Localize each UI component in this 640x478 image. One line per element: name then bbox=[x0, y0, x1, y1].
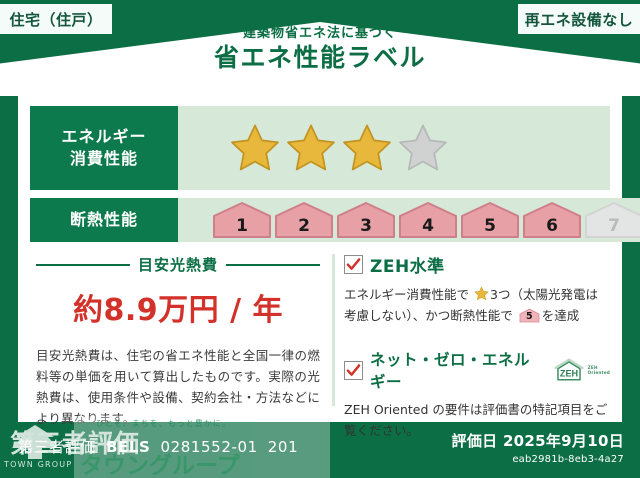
utility-cost-column: 目安光熱費 約8.9万円 / 年 目安光熱費は、住宅の省エネ性能と全国一律の燃料… bbox=[30, 248, 326, 420]
heading-rule-left bbox=[36, 264, 130, 266]
house-level-number: 1 bbox=[236, 216, 248, 239]
energy-label-line2: 消費性能 bbox=[70, 148, 138, 170]
house-level-number: 5 bbox=[484, 216, 496, 239]
house-level-3: 3 bbox=[336, 201, 396, 239]
svg-text:ZEH: ZEH bbox=[560, 369, 578, 379]
utility-cost-note: 目安光熱費は、住宅の省エネ性能と全国一律の燃料等の単価を用いて算出したものです。… bbox=[36, 345, 320, 429]
zeh-standard-title: ZEH水準 bbox=[370, 252, 445, 277]
insulation-performance-label-box: 断熱性能 bbox=[30, 198, 178, 242]
house-level-5: 5 bbox=[460, 201, 520, 239]
page-title: 省エネ性能ラベル bbox=[0, 42, 640, 74]
house-level-6: 6 bbox=[522, 201, 582, 239]
utility-cost-heading: 目安光熱費 bbox=[36, 254, 320, 275]
footer-bels-label: BELS bbox=[106, 438, 150, 456]
star-filled-icon bbox=[284, 122, 338, 174]
net-zero-checkbox[interactable] bbox=[344, 361, 363, 380]
zeh-standard-body: エネルギー消費性能で 3つ（太陽光発電は考慮しない）、かつ断熱性能で 5 を達成 bbox=[344, 284, 610, 326]
star-empty-icon bbox=[396, 122, 450, 174]
footer-third-party-label: 第三者評価 bbox=[18, 436, 96, 457]
net-zero-title: ネット・ゼロ・エネルギー bbox=[370, 348, 543, 392]
zeh-body-part1: エネルギー消費性能で bbox=[344, 287, 469, 302]
zeh-oriented-logo: ZEH ZEH Oriented bbox=[552, 357, 610, 383]
check-icon bbox=[346, 257, 361, 272]
insulation-performance-row: 断熱性能 1234567 bbox=[30, 198, 610, 242]
house-level-number: 4 bbox=[422, 216, 434, 239]
insulation-performance-value: 1234567 bbox=[178, 198, 640, 242]
energy-performance-value bbox=[178, 106, 610, 190]
house-level-7: 7 bbox=[584, 201, 640, 239]
zeh-standard-block: ZEH水準 エネルギー消費性能で 3つ（太陽光発電は考慮しない）、かつ断熱性能で… bbox=[344, 252, 610, 326]
zeh-standard-checkbox[interactable] bbox=[344, 255, 363, 274]
star-filled-icon bbox=[340, 122, 394, 174]
heading-rule-right bbox=[226, 264, 320, 266]
zeh-logo-caption: ZEH Oriented bbox=[588, 365, 610, 376]
inline-house-number: 5 bbox=[519, 308, 540, 323]
star-filled-icon bbox=[228, 122, 282, 174]
zeh-body-part3: を達成 bbox=[542, 308, 580, 323]
zeh-logo-caption-line2: Oriented bbox=[588, 370, 610, 375]
utility-cost-heading-text: 目安光熱費 bbox=[138, 254, 218, 275]
zeh-standard-heading: ZEH水準 bbox=[344, 252, 610, 277]
zeh-house-logo-icon: ZEH bbox=[552, 357, 586, 383]
footer-certificate-number: 0281552-01 bbox=[160, 438, 257, 456]
house-level-number: 6 bbox=[546, 216, 558, 239]
column-divider bbox=[332, 254, 335, 406]
check-icon bbox=[346, 363, 361, 378]
house-level-number: 2 bbox=[298, 216, 310, 239]
house-level-4: 4 bbox=[398, 201, 458, 239]
energy-performance-label: 住宅（住戸） 再エネ設備なし 建築物省エネ法に基づく 省エネ性能ラベル エネルギ… bbox=[0, 0, 640, 478]
energy-performance-row: エネルギー 消費性能 bbox=[30, 106, 610, 190]
insulation-label: 断熱性能 bbox=[70, 209, 138, 231]
label-body-panel: エネルギー 消費性能 断熱性能 1234567 目安光熱費 bbox=[18, 96, 622, 422]
lower-content: 目安光熱費 約8.9万円 / 年 目安光熱費は、住宅の省エネ性能と全国一律の燃料… bbox=[30, 248, 610, 420]
house-level-2: 2 bbox=[274, 201, 334, 239]
energy-performance-label-box: エネルギー 消費性能 bbox=[30, 106, 178, 190]
footer-bar: 第三者評価 BELS 0281552-01 201 評価日 2025年9月10日… bbox=[0, 422, 640, 478]
footer-right-group: 評価日 2025年9月10日 eab2981b-8eb3-4a27 bbox=[452, 430, 624, 465]
net-zero-heading: ネット・ゼロ・エネルギー ZEH ZEH Oriented bbox=[344, 348, 610, 392]
footer-evaluation-date: 評価日 2025年9月10日 bbox=[452, 430, 624, 451]
utility-cost-value: 約8.9万円 / 年 bbox=[36, 285, 320, 329]
house-level-1: 1 bbox=[212, 201, 272, 239]
inline-star-icon bbox=[474, 286, 489, 301]
energy-label-line1: エネルギー bbox=[61, 126, 146, 148]
house-level-number: 3 bbox=[360, 216, 372, 239]
footer-uuid: eab2981b-8eb3-4a27 bbox=[452, 454, 624, 465]
star-rating bbox=[190, 122, 450, 174]
house-rating-scale: 1234567 bbox=[190, 201, 640, 239]
footer-left-group: 第三者評価 BELS 0281552-01 201 bbox=[18, 436, 298, 457]
badge-renewable-equipment: 再エネ設備なし bbox=[518, 4, 640, 34]
inline-house-badge: 5 bbox=[519, 308, 540, 323]
house-level-number: 7 bbox=[608, 216, 620, 239]
footer-unit-number: 201 bbox=[268, 438, 298, 456]
zeh-logo-caption-line1: ZEH bbox=[588, 365, 598, 370]
badge-building-type: 住宅（住戸） bbox=[0, 4, 112, 34]
zeh-column: ZEH水準 エネルギー消費性能で 3つ（太陽光発電は考慮しない）、かつ断熱性能で… bbox=[326, 248, 610, 420]
